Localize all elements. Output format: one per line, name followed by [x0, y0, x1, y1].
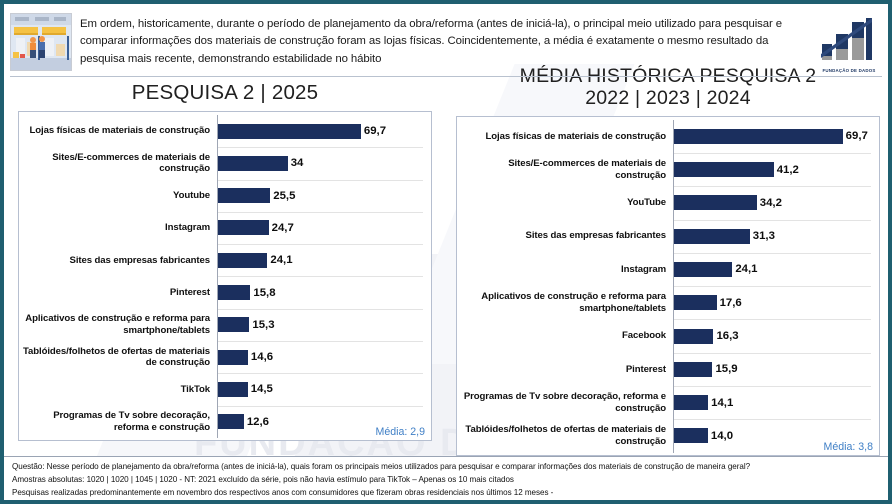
chart-bar-row: Pinterest15,8 [19, 276, 431, 308]
slide-canvas: FUNDAÇÃO DE DADOS [0, 0, 892, 504]
bar-value-label: 14,5 [251, 383, 273, 395]
gridline [674, 286, 871, 287]
bar-track: 25,5 [217, 180, 431, 212]
bar-value-label: 69,7 [846, 130, 868, 142]
bar [674, 195, 757, 210]
header-divider [10, 76, 882, 77]
gridline [218, 244, 423, 245]
logo-caption: FUNDAÇÃO DE DADOS [818, 68, 880, 73]
bar-track: 24,1 [673, 253, 879, 286]
bar-category-label: Pinterest [457, 364, 673, 376]
footnote-samples: Amostras absolutas: 1020 | 1020 | 1045 |… [12, 474, 880, 487]
slide-footnotes: Questão: Nesse período de planejamento d… [4, 456, 888, 500]
bar-track: 24,7 [217, 212, 431, 244]
bar-track: 69,7 [217, 115, 431, 147]
gridline [218, 147, 423, 148]
bar [218, 350, 248, 365]
chart-bar-row: Pinterest15,9 [457, 353, 879, 386]
bar-track: 17,6 [673, 286, 879, 319]
bar-category-label: TikTok [19, 384, 217, 396]
gridline [218, 276, 423, 277]
gridline [674, 186, 871, 187]
chart-bar-row: Facebook16,3 [457, 319, 879, 352]
bar-value-label: 24,1 [270, 254, 292, 266]
left-chart-title: PESQUISA 2 | 2025 [18, 82, 432, 105]
gridline [674, 319, 871, 320]
gridline [218, 341, 423, 342]
bar-value-label: 12,6 [247, 416, 269, 428]
gridline [674, 153, 871, 154]
bar [674, 428, 708, 443]
bar [218, 156, 288, 171]
bar-track: 15,8 [217, 276, 431, 308]
bar [218, 188, 270, 203]
bar-track: 41,2 [673, 153, 879, 186]
bar-category-label: Instagram [457, 264, 673, 276]
bar-category-label: Tablóides/folhetos de ofertas de materia… [19, 346, 217, 369]
bar-value-label: 41,2 [777, 164, 799, 176]
bar-value-label: 17,6 [720, 297, 742, 309]
bar [674, 295, 717, 310]
fundacao-de-dados-logo: FUNDAÇÃO DE DADOS [818, 14, 880, 72]
bar-track: 24,1 [217, 244, 431, 276]
left-chart-plot-area: Lojas físicas de materiais de construção… [18, 111, 432, 441]
bar-value-label: 16,3 [716, 330, 738, 342]
footnote-methodology: Pesquisas realizadas predominantemente e… [12, 487, 880, 500]
bar [218, 253, 267, 268]
bar [218, 285, 250, 300]
bar [674, 362, 712, 377]
gridline [218, 309, 423, 310]
bar [218, 414, 244, 429]
bar [218, 317, 249, 332]
slide-header: Em ordem, historicamente, durante o perí… [4, 4, 888, 78]
bar-category-label: Instagram [19, 222, 217, 234]
bar-category-label: YouTube [457, 197, 673, 209]
gridline [218, 180, 423, 181]
bar-category-label: Youtube [19, 190, 217, 202]
gridline [218, 373, 423, 374]
footnote-question: Questão: Nesse período de planejamento d… [12, 461, 880, 474]
bar [674, 129, 843, 144]
gridline [674, 386, 871, 387]
bar-category-label: Lojas físicas de materiais de construção [19, 125, 217, 137]
bar [674, 262, 732, 277]
bar-value-label: 34 [291, 157, 304, 169]
chart-bar-row: Programas de Tv sobre decoração, reforma… [19, 406, 431, 438]
bar-category-label: Sites/E-commerces de materiais de constr… [457, 158, 673, 181]
left-chart-media-annotation: Média: 2,9 [376, 426, 425, 438]
bar-value-label: 24,7 [272, 222, 294, 234]
bar [674, 395, 708, 410]
header-insight-text: Em ordem, historicamente, durante o perí… [72, 10, 818, 68]
bar-track: 14,6 [217, 341, 431, 373]
bar-track: 69,7 [673, 120, 879, 153]
gridline [674, 220, 871, 221]
chart-panel-media-historica: MÉDIA HISTÓRICA PESQUISA 2 2022 | 2023 |… [456, 66, 880, 456]
bar-value-label: 24,1 [735, 263, 757, 275]
right-chart-plot-area: Lojas físicas de materiais de construção… [456, 116, 880, 456]
chart-bar-row: Sites/E-commerces de materiais de constr… [19, 147, 431, 179]
bar-value-label: 14,1 [711, 397, 733, 409]
bar-track: 14,5 [217, 373, 431, 405]
bar-value-label: 34,2 [760, 197, 782, 209]
bar-track: 34,2 [673, 186, 879, 219]
chart-bar-row: YouTube34,2 [457, 186, 879, 219]
gridline [218, 212, 423, 213]
gridline [218, 406, 423, 407]
bar [218, 124, 361, 139]
bar-track: 15,9 [673, 353, 879, 386]
hardware-store-illustration [10, 13, 72, 71]
bar-category-label: Programas de Tv sobre decoração, reforma… [457, 391, 673, 414]
bar-track: 31,3 [673, 220, 879, 253]
chart-bar-row: Tablóides/folhetos de ofertas de materia… [457, 419, 879, 452]
bar-category-label: Sites das empresas fabricantes [19, 255, 217, 267]
chart-bar-row: Tablóides/folhetos de ofertas de materia… [19, 341, 431, 373]
gridline [674, 353, 871, 354]
bar [674, 229, 750, 244]
bar-value-label: 14,0 [711, 430, 733, 442]
chart-bar-row: Aplicativos de construção e reforma para… [19, 309, 431, 341]
bar-category-label: Facebook [457, 330, 673, 342]
bar-value-label: 31,3 [753, 230, 775, 242]
bar-track: 16,3 [673, 319, 879, 352]
bar [218, 382, 248, 397]
bar [218, 220, 269, 235]
chart-bar-row: Instagram24,7 [19, 212, 431, 244]
bar-value-label: 15,8 [253, 287, 275, 299]
chart-bar-row: Lojas físicas de materiais de construção… [19, 115, 431, 147]
bar-value-label: 14,6 [251, 351, 273, 363]
chart-bar-row: Lojas físicas de materiais de construção… [457, 120, 879, 153]
chart-bar-row: Sites das empresas fabricantes31,3 [457, 220, 879, 253]
bar-category-label: Programas de Tv sobre decoração, reforma… [19, 410, 217, 433]
bar-category-label: Sites das empresas fabricantes [457, 230, 673, 242]
bar-value-label: 15,9 [715, 363, 737, 375]
right-chart-title-line2: 2022 | 2023 | 2024 [456, 88, 880, 110]
bar-category-label: Aplicativos de construção e reforma para… [19, 313, 217, 336]
gridline [674, 419, 871, 420]
bar-value-label: 15,3 [252, 319, 274, 331]
chart-bar-row: Sites das empresas fabricantes24,1 [19, 244, 431, 276]
chart-bar-row: Programas de Tv sobre decoração, reforma… [457, 386, 879, 419]
bar-track: 15,3 [217, 309, 431, 341]
bar-track: 34 [217, 147, 431, 179]
bar-value-label: 69,7 [364, 125, 386, 137]
bar-category-label: Tablóides/folhetos de ofertas de materia… [457, 424, 673, 447]
bar-value-label: 25,5 [273, 190, 295, 202]
bar-category-label: Pinterest [19, 287, 217, 299]
bar-category-label: Lojas físicas de materiais de construção [457, 131, 673, 143]
gridline [674, 253, 871, 254]
bar [674, 329, 713, 344]
bar [674, 162, 774, 177]
chart-bar-row: Aplicativos de construção e reforma para… [457, 286, 879, 319]
chart-bar-row: TikTok14,5 [19, 373, 431, 405]
chart-panel-pesquisa-2-2025: PESQUISA 2 | 2025 Lojas físicas de mater… [18, 82, 432, 441]
chart-bar-row: Sites/E-commerces de materiais de constr… [457, 153, 879, 186]
bar-category-label: Sites/E-commerces de materiais de constr… [19, 152, 217, 175]
chart-bar-row: Youtube25,5 [19, 180, 431, 212]
bar-track: 14,1 [673, 386, 879, 419]
bar-category-label: Aplicativos de construção e reforma para… [457, 291, 673, 314]
chart-bar-row: Instagram24,1 [457, 253, 879, 286]
right-chart-media-annotation: Média: 3,8 [824, 441, 873, 453]
